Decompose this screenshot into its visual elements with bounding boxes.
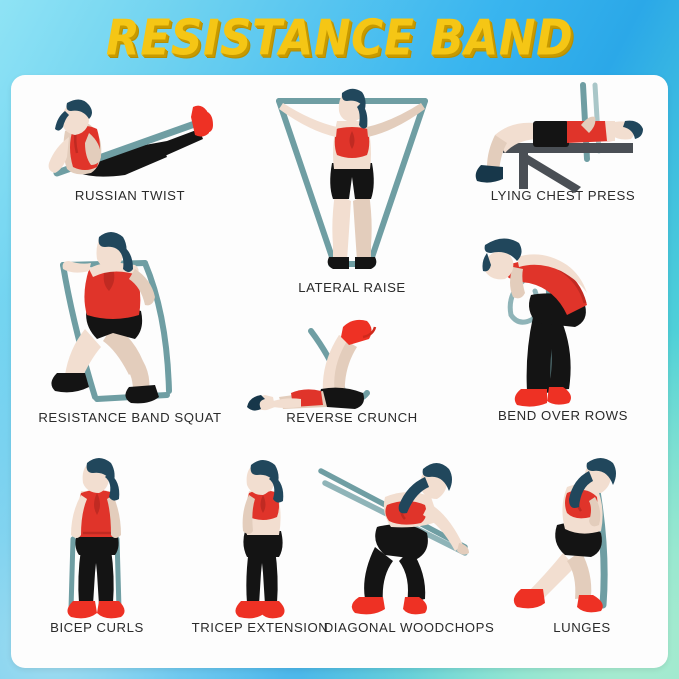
exercise-label-russian-twist: RUSSIAN TWIST — [17, 189, 243, 202]
exercise-label-lying-chest-press: LYING CHEST PRESS — [463, 189, 663, 202]
title-bar: RESISTANCE BAND — [0, 0, 679, 78]
exercise-tile-reverse-crunch[interactable]: REVERSE CRUNCH — [243, 315, 461, 443]
exercise-label-resistance-band-squat: RESISTANCE BAND SQUAT — [17, 411, 243, 424]
resistance-band-poster: RESISTANCE BAND — [0, 0, 679, 679]
lunges-illustration — [497, 453, 667, 625]
exercise-label-lateral-raise: LATERAL RAISE — [239, 281, 465, 294]
reverse-crunch-illustration — [243, 315, 461, 415]
exercise-label-bicep-curls: BICEP CURLS — [17, 621, 177, 634]
bend-over-rows-illustration — [463, 223, 663, 413]
exercise-tile-bicep-curls[interactable]: BICEP CURLS — [17, 453, 177, 653]
exercise-tile-bend-over-rows[interactable]: BEND OVER ROWS — [463, 223, 663, 443]
page-title: RESISTANCE BAND — [106, 14, 573, 63]
resistance-band-squat-illustration — [17, 225, 243, 415]
exercise-label-bend-over-rows: BEND OVER ROWS — [463, 409, 663, 422]
exercise-tile-lateral-raise[interactable]: LATERAL RAISE — [239, 81, 465, 311]
lateral-raise-illustration — [239, 81, 465, 286]
exercise-label-lunges: LUNGES — [497, 621, 667, 634]
russian-twist-illustration — [17, 81, 243, 193]
bicep-curls-illustration — [17, 453, 177, 625]
exercise-tile-resistance-band-squat[interactable]: RESISTANCE BAND SQUAT — [17, 225, 243, 443]
exercise-label-reverse-crunch: REVERSE CRUNCH — [243, 411, 461, 424]
exercise-tile-russian-twist[interactable]: RUSSIAN TWIST — [17, 81, 243, 219]
exercise-grid-card: RUSSIAN TWIST — [11, 75, 668, 668]
exercise-tile-lunges[interactable]: LUNGES — [497, 453, 667, 653]
exercise-label-diagonal-woodchops: DIAGONAL WOODCHOPS — [315, 621, 503, 634]
lying-chest-press-illustration — [463, 81, 663, 193]
exercise-tile-lying-chest-press[interactable]: LYING CHEST PRESS — [463, 81, 663, 219]
diagonal-woodchops-illustration — [315, 453, 503, 625]
exercise-tile-diagonal-woodchops[interactable]: DIAGONAL WOODCHOPS — [315, 453, 503, 653]
